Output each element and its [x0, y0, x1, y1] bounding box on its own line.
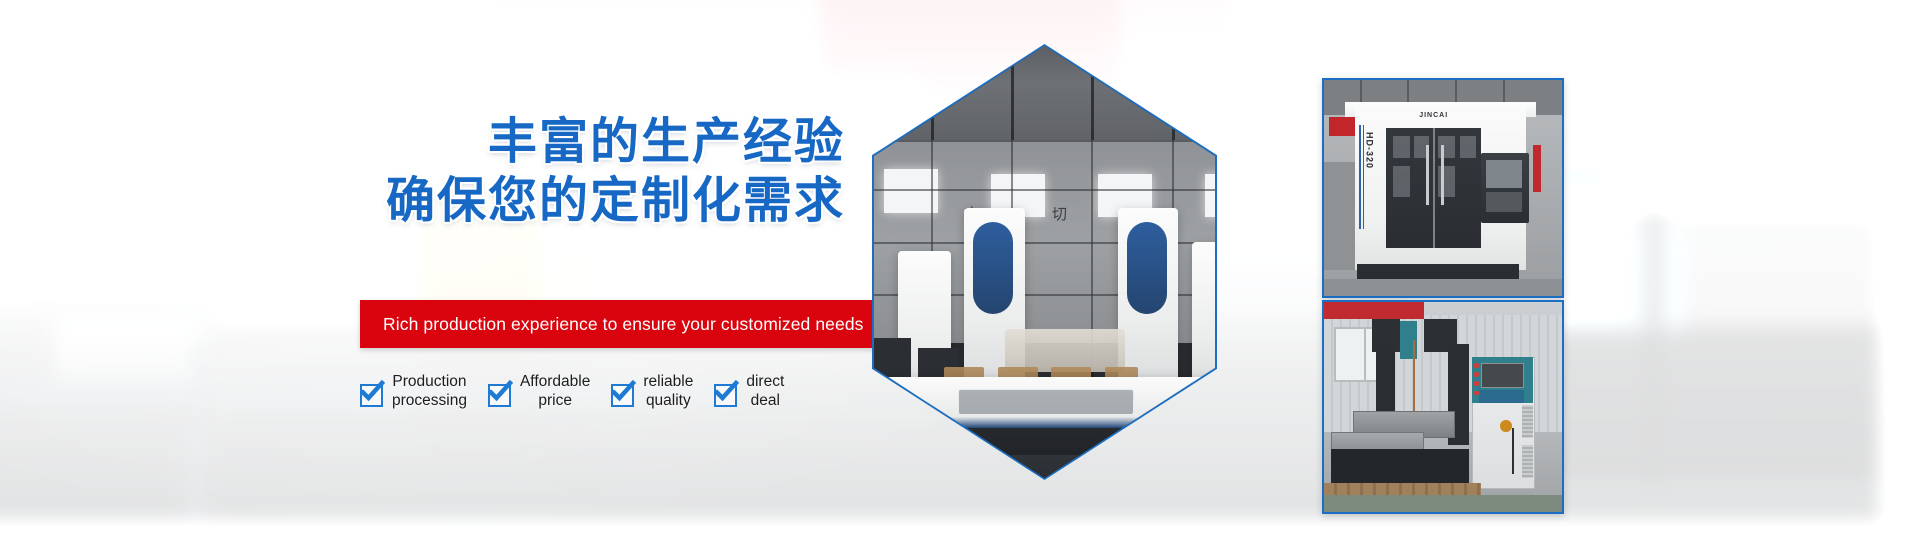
- edm-column-left: [1376, 344, 1395, 420]
- hexagon-photo: 定 一 切: [872, 44, 1217, 480]
- thumbnail-machining-center-content: JINCAI HD-320: [1324, 80, 1562, 296]
- workshop-floor: [874, 455, 1215, 479]
- checkbox-checked-icon: [360, 384, 383, 407]
- edm-emergency-stop-icon: [1500, 420, 1512, 433]
- subtitle-text: Rich production experience to ensure you…: [360, 314, 864, 335]
- feature-label: Affordable price: [520, 372, 590, 410]
- subtitle-bar: Rich production experience to ensure you…: [360, 300, 905, 348]
- feature-item-production-processing: Production processing: [360, 372, 467, 410]
- feature-label-line-2: processing: [392, 391, 467, 410]
- feature-label-line-2: deal: [746, 391, 784, 410]
- hexagon-photo-clip: 定 一 切: [874, 46, 1215, 478]
- feature-label-line-1: direct: [746, 372, 784, 391]
- machine-brand-label: JINCAI: [1419, 112, 1448, 119]
- edm-cabinet-screen: [1481, 363, 1523, 388]
- machine-door-glass: [1393, 166, 1410, 196]
- edm-cabinet-buttons: [1473, 361, 1480, 403]
- machine-column: [1192, 242, 1215, 397]
- promo-banner: 丰富的生产经验 确保您的定制化需求 Rich production experi…: [0, 0, 1920, 560]
- checkbox-checked-icon: [714, 384, 737, 407]
- thumb-floor: [1324, 279, 1562, 296]
- thumb-side-wall: [1324, 162, 1355, 270]
- thumbnail-machining-center: JINCAI HD-320: [1322, 78, 1564, 298]
- machine-accent-stripe: [1359, 125, 1361, 229]
- machine-control-keypad: [1486, 192, 1522, 211]
- feature-item-affordable-price: Affordable price: [488, 372, 590, 410]
- machine-door-handle: [1441, 145, 1444, 205]
- edm-cabinet-panel: [1479, 390, 1524, 403]
- machine-control-screen: [1486, 160, 1522, 188]
- thumbnail-wire-edm-content: [1324, 302, 1562, 512]
- checkbox-checked-icon: [611, 384, 634, 407]
- thumbnail-wire-edm: [1322, 300, 1564, 514]
- edm-cable: [1512, 428, 1514, 474]
- machine-door-handle: [1426, 145, 1429, 205]
- feature-item-direct-deal: direct deal: [714, 372, 784, 410]
- edm-cabinet-vent: [1522, 405, 1534, 439]
- feature-label: reliable quality: [643, 372, 693, 410]
- feature-label-line-2: price: [520, 391, 590, 410]
- headline: 丰富的生产经验 确保您的定制化需求: [0, 112, 845, 231]
- workshop-photo-content: 定 一 切: [874, 46, 1215, 478]
- thumb-red-banner: [1324, 302, 1424, 319]
- feature-label: Production processing: [392, 372, 467, 410]
- machine-blue-panel: [1127, 222, 1167, 314]
- thumb-floor: [1324, 495, 1562, 512]
- machine-door-split: [1433, 128, 1435, 249]
- machine-blue-panel: [973, 222, 1013, 314]
- feature-list: Production processing Affordable price: [360, 372, 920, 432]
- feature-item-reliable-quality: reliable quality: [611, 372, 693, 410]
- edm-base: [1331, 449, 1469, 487]
- edm-cabinet-vent-2: [1522, 445, 1534, 479]
- feature-label-line-1: Production: [392, 372, 467, 391]
- machine-door-glass: [1460, 136, 1477, 158]
- feature-label: direct deal: [746, 372, 784, 410]
- machine-door-glass: [1393, 136, 1410, 158]
- machine-model-label: HD-320: [1364, 132, 1374, 169]
- feature-label-line-2: quality: [643, 391, 693, 410]
- feature-label-line-1: reliable: [643, 372, 693, 391]
- machine-bed-window: [958, 389, 1134, 415]
- feature-label-line-1: Affordable: [520, 372, 590, 391]
- headline-line-2: 确保您的定制化需求: [0, 171, 845, 230]
- machine-red-trim: [1533, 145, 1540, 193]
- checkbox-checked-icon: [488, 384, 511, 407]
- headline-line-1: 丰富的生产经验: [0, 112, 845, 171]
- machine-wrapped-parts: [1005, 329, 1125, 373]
